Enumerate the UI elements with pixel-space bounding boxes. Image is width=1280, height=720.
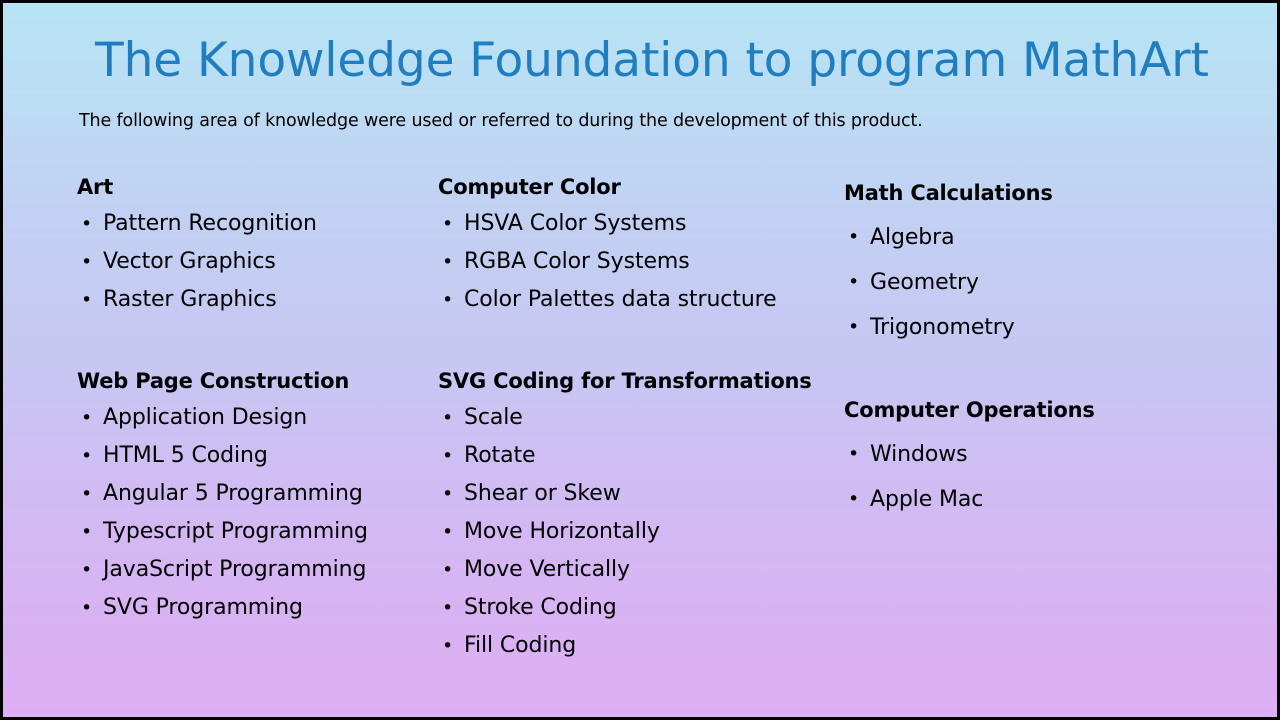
list-item: Angular 5 Programming bbox=[77, 475, 437, 513]
page-title: The Knowledge Foundation to program Math… bbox=[95, 35, 1195, 88]
list-item: Move Horizontally bbox=[438, 513, 838, 551]
topic-heading: SVG Coding for Transformations bbox=[438, 369, 838, 393]
topic-heading: Computer Color bbox=[438, 175, 838, 199]
list-item: Apple Mac bbox=[844, 477, 1244, 522]
list-item: HSVA Color Systems bbox=[438, 205, 838, 243]
topic-list: Application Design HTML 5 Coding Angular… bbox=[77, 399, 437, 627]
list-item: Rotate bbox=[438, 437, 838, 475]
topic-block-computer-operations: Computer Operations Windows Apple Mac bbox=[844, 398, 1244, 522]
topic-heading: Art bbox=[77, 175, 437, 199]
list-item: Windows bbox=[844, 432, 1244, 477]
topic-block-math-calculations: Math Calculations Algebra Geometry Trigo… bbox=[844, 181, 1244, 350]
topic-heading: Computer Operations bbox=[844, 398, 1244, 422]
list-item: Stroke Coding bbox=[438, 589, 838, 627]
list-item: Move Vertically bbox=[438, 551, 838, 589]
block-spacer bbox=[77, 319, 437, 369]
list-item: Pattern Recognition bbox=[77, 205, 437, 243]
knowledge-column-2: Computer Color HSVA Color Systems RGBA C… bbox=[438, 175, 838, 665]
list-item: Application Design bbox=[77, 399, 437, 437]
list-item: Scale bbox=[438, 399, 838, 437]
block-spacer bbox=[438, 319, 838, 369]
list-item: Algebra bbox=[844, 215, 1244, 260]
topic-block-svg-coding-for-transformations: SVG Coding for Transformations Scale Rot… bbox=[438, 369, 838, 665]
topic-block-web-page-construction: Web Page Construction Application Design… bbox=[77, 369, 437, 627]
list-item: Trigonometry bbox=[844, 305, 1244, 350]
page-subtitle: The following area of knowledge were use… bbox=[79, 111, 1199, 133]
list-item: Color Palettes data structure bbox=[438, 281, 838, 319]
list-item: SVG Programming bbox=[77, 589, 437, 627]
list-item: Geometry bbox=[844, 260, 1244, 305]
list-item: HTML 5 Coding bbox=[77, 437, 437, 475]
topic-heading: Web Page Construction bbox=[77, 369, 437, 393]
list-item: Raster Graphics bbox=[77, 281, 437, 319]
topic-list: Algebra Geometry Trigonometry bbox=[844, 215, 1244, 350]
list-item: Fill Coding bbox=[438, 627, 838, 665]
list-item: JavaScript Programming bbox=[77, 551, 437, 589]
topic-list: Windows Apple Mac bbox=[844, 432, 1244, 522]
knowledge-column-1: Art Pattern Recognition Vector Graphics … bbox=[77, 175, 437, 627]
topic-list: Pattern Recognition Vector Graphics Rast… bbox=[77, 205, 437, 319]
list-item: RGBA Color Systems bbox=[438, 243, 838, 281]
list-item: Typescript Programming bbox=[77, 513, 437, 551]
topic-list: Scale Rotate Shear or Skew Move Horizont… bbox=[438, 399, 838, 665]
list-item: Shear or Skew bbox=[438, 475, 838, 513]
list-item: Vector Graphics bbox=[77, 243, 437, 281]
topic-block-art: Art Pattern Recognition Vector Graphics … bbox=[77, 175, 437, 319]
topic-heading: Math Calculations bbox=[844, 181, 1244, 205]
topic-block-computer-color: Computer Color HSVA Color Systems RGBA C… bbox=[438, 175, 838, 319]
slide-canvas: The Knowledge Foundation to program Math… bbox=[0, 0, 1280, 720]
knowledge-column-3: Math Calculations Algebra Geometry Trigo… bbox=[844, 181, 1244, 522]
block-spacer bbox=[844, 350, 1244, 398]
topic-list: HSVA Color Systems RGBA Color Systems Co… bbox=[438, 205, 838, 319]
